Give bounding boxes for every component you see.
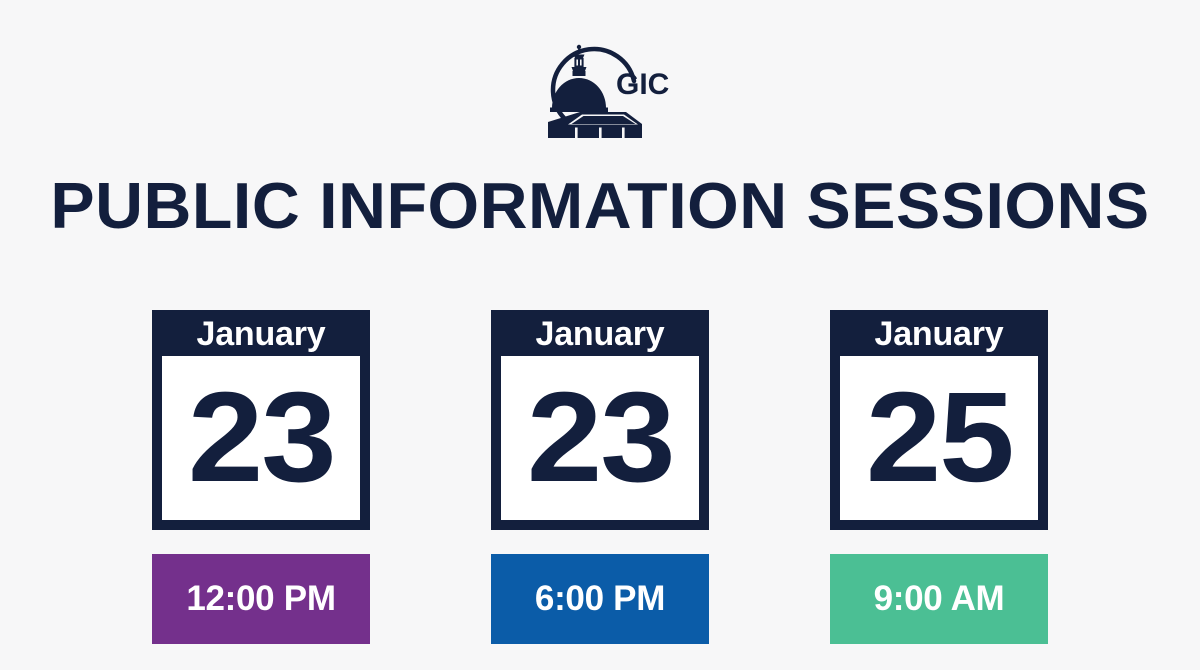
- calendar-day-area: 25: [840, 356, 1038, 520]
- calendar-month-label: January: [196, 314, 325, 356]
- page-title: PUBLIC INFORMATION SESSIONS: [0, 173, 1200, 238]
- calendar-day-number: 25: [866, 374, 1013, 502]
- public-information-sessions-poster: GIC PUBLIC INFORMATION SESSIONS January …: [0, 0, 1200, 670]
- calendar-icon-1: January 23: [152, 310, 370, 530]
- calendar-icon-2: January 23: [491, 310, 709, 530]
- calendar-day-area: 23: [501, 356, 699, 520]
- calendar-month-label: January: [874, 314, 1003, 356]
- session-time-band: 9:00 AM: [830, 554, 1048, 644]
- calendar-day-area: 23: [162, 356, 360, 520]
- gic-logo: GIC: [0, 34, 1200, 138]
- session-time-label: 9:00 AM: [874, 580, 1005, 618]
- gic-state-house-dome-logo: GIC: [530, 34, 670, 138]
- session-time-label: 6:00 PM: [535, 580, 665, 618]
- logo-wordmark: GIC: [616, 68, 669, 101]
- session-time-band: 6:00 PM: [491, 554, 709, 644]
- sessions-list: January 23 12:00 PM January 23 6:00 PM: [152, 310, 1048, 640]
- calendar-day-number: 23: [527, 374, 674, 502]
- calendar-month-label: January: [535, 314, 664, 356]
- calendar-day-number: 23: [188, 374, 335, 502]
- session-card: January 23 12:00 PM: [152, 310, 370, 644]
- session-card: January 25 9:00 AM: [830, 310, 1048, 644]
- session-time-label: 12:00 PM: [186, 580, 335, 618]
- session-time-band: 12:00 PM: [152, 554, 370, 644]
- session-card: January 23 6:00 PM: [491, 310, 709, 644]
- calendar-icon-3: January 25: [830, 310, 1048, 530]
